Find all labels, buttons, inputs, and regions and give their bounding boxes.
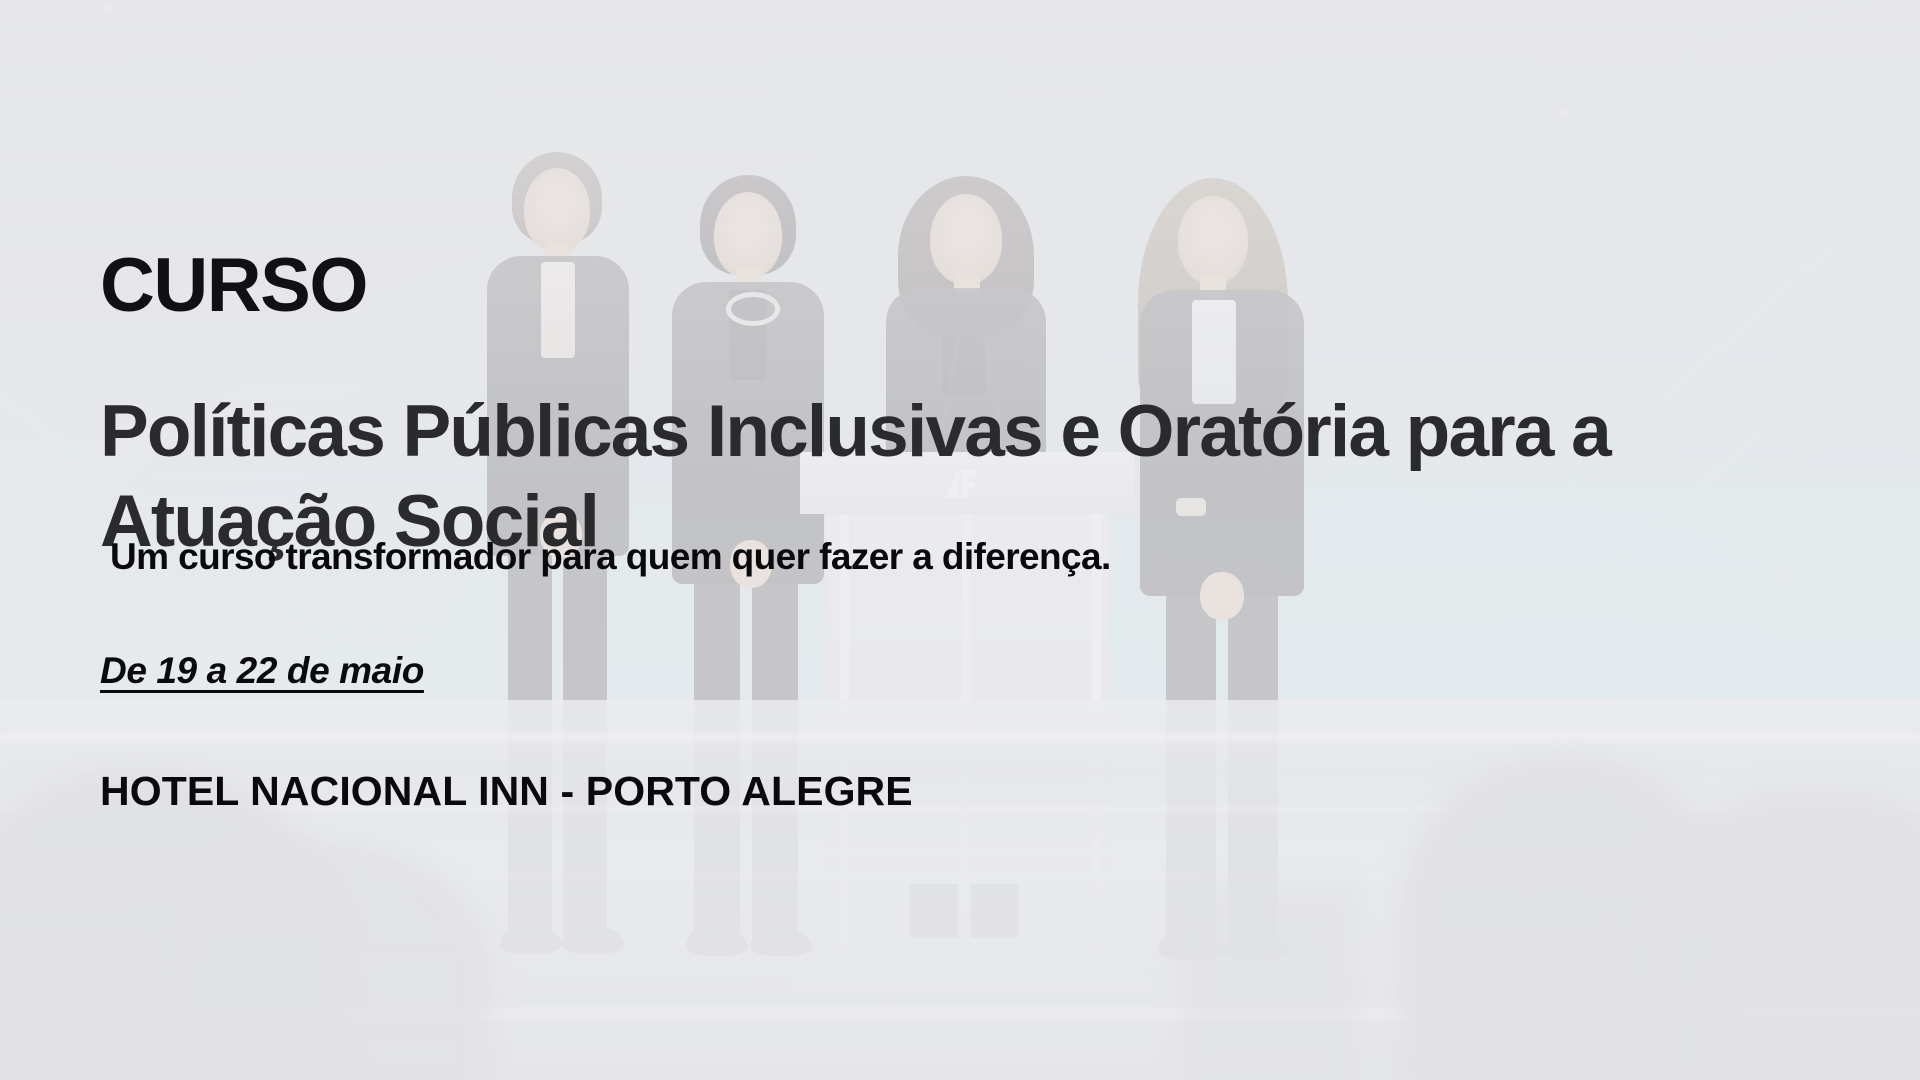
subtitle-tagline: Um curso transformador para quem quer fa… [110, 536, 1111, 579]
poster-text-content: CURSO Políticas Públicas Inclusivas e Or… [100, 0, 1720, 1080]
course-promo-poster: CURSO Políticas Públicas Inclusivas e Or… [0, 0, 1920, 1080]
eyebrow-label: CURSO [100, 248, 367, 324]
event-date: De 19 a 22 de maio [100, 650, 424, 692]
event-venue: HOTEL NACIONAL INN - PORTO ALEGRE [100, 768, 913, 815]
